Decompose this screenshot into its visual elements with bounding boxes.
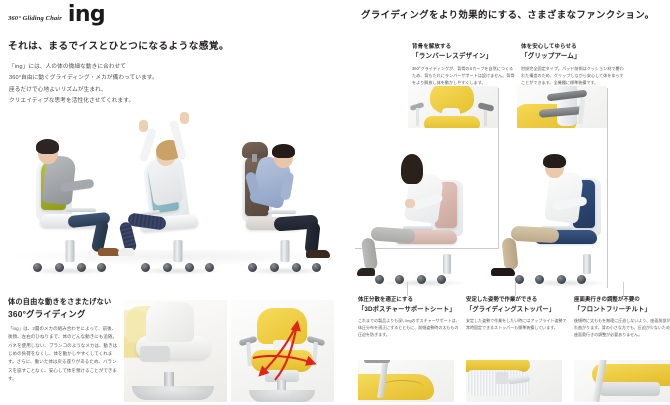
callout-tick-2 xyxy=(515,282,516,296)
chair-armrest xyxy=(268,210,296,214)
person-leg-upper xyxy=(511,226,560,243)
right-main-photos xyxy=(355,120,670,292)
feature-title-2: 「グリップアーム」 xyxy=(521,52,624,62)
chair-gas-column xyxy=(174,240,183,262)
feature-front-free-tilt: 座面奥行きの調整が不要の 「フロントフリーチルト」 後傾時に太ももを無理に圧迫し… xyxy=(574,296,670,338)
chair-headrest-stem xyxy=(252,154,257,162)
hero-photo-three-people xyxy=(0,118,352,290)
feature-gliding-stopper: 安定した姿勢で作業ができる 「グライディングストッパー」 安定した姿勢で作業をし… xyxy=(466,296,569,331)
person-shoe xyxy=(98,248,120,256)
person-hair xyxy=(543,154,566,168)
figure-man-brown-chair xyxy=(226,114,344,272)
product-logo: 360° Gliding Chair ing xyxy=(8,5,105,25)
callout-tick-3 xyxy=(623,282,624,296)
figure-man-navy-chair xyxy=(495,122,635,284)
gliding-stopper-photo xyxy=(466,360,562,402)
chair-armrest xyxy=(66,208,96,212)
gliding-caption: 体の自由な動きをさまたげない 360°グライディング 「ing」は、2層のメカの… xyxy=(8,297,120,383)
person-hair xyxy=(272,144,295,158)
feature-title-2: 「3Dポスチャーサポートシート」 xyxy=(358,305,461,314)
gliding-caption-title-2: 360°グライディング xyxy=(8,308,120,321)
person-leg-lower xyxy=(361,237,378,270)
gliding-direction-arrows-photo xyxy=(231,300,334,402)
callout-tick-1 xyxy=(407,282,408,296)
feature-title-1: 座面奥行きの調整が不要の xyxy=(574,296,670,304)
right-column: グライディングをより効果的にする、さまざまなファンクション。 背骨を解放する 「… xyxy=(355,0,670,405)
person-shoe xyxy=(491,268,515,276)
person-shoe xyxy=(306,250,330,258)
feature-3d-posture-support-seat: 体圧分散を適正にする 「3Dポスチャーサポートシート」 これまでの製品よりも深い… xyxy=(358,296,461,338)
person-shoe xyxy=(118,248,134,256)
feature-title-2: 「グライディングストッパー」 xyxy=(466,305,569,314)
armrest-pad xyxy=(364,360,390,363)
left-column: 360° Gliding Chair ing それは、まるでイスとひとつになるよ… xyxy=(0,0,352,405)
person-arm-raised-left xyxy=(139,128,157,163)
lead-copy: それは、まるでイスとひとつになるような感覚。 xyxy=(8,38,229,52)
person-hair xyxy=(401,154,423,184)
intro-line: 360°自由に動くグライディング・メカが備わっています。 xyxy=(9,73,219,84)
posture-support-seat-photo xyxy=(358,360,454,402)
person-leg-lower xyxy=(501,237,518,270)
feature-body: 安定した姿勢で作業をしたい時にはアップライト姿勢で常時固定できるストッパーも標準… xyxy=(466,317,569,331)
feature-title-1: 体圧分散を適正にする xyxy=(358,296,461,304)
stopper-mechanism xyxy=(496,372,508,384)
chair-gas-column xyxy=(66,240,75,262)
front-free-tilt-photo xyxy=(574,360,670,402)
person-leg-upper xyxy=(371,226,416,243)
intro-line: 座るだけで心地よいリズムが生まれ、 xyxy=(9,85,219,96)
chair-base xyxy=(515,271,587,284)
feature-title-2: 「ランバーレスデザイン」 xyxy=(412,52,515,62)
feature-grip-arm: 体を安心してゆらせる 「グリップアーム」 肘掛完全固定タイプ。パッド前側はクッシ… xyxy=(521,43,624,87)
direction-arrows-icon xyxy=(231,300,334,402)
figure-woman-pink-chair xyxy=(359,122,489,284)
person-hand-right xyxy=(180,112,189,124)
seat-contour-line xyxy=(380,380,424,394)
figure-woman-teal-chair xyxy=(118,102,238,272)
gliding-caption-title-1: 体の自由な動きをさまたげない xyxy=(8,297,120,307)
feature-body: 後傾時に太ももを無理に圧迫しないよう、座面前部が折れ曲がります。背の小さな方でも… xyxy=(574,317,670,338)
feature-title-1: 背骨を解放する xyxy=(412,43,515,51)
feature-title-1: 体を安心してゆらせる xyxy=(521,43,624,51)
gliding-caption-body: 「ing」は、2層のメカの組み合わせによって、前後、後傾、左右のひねりまで、体の… xyxy=(8,325,120,383)
person-hair xyxy=(36,139,59,154)
feature-title-2: 「フロントフリーチルト」 xyxy=(574,305,670,314)
feature-lumbarless-design: 背骨を解放する 「ランバーレスデザイン」 360°グライディングが、背骨のSカー… xyxy=(412,43,515,87)
chair-base-star xyxy=(132,386,214,400)
chair-base xyxy=(375,271,447,284)
person-hand-left xyxy=(139,120,148,132)
chair-gas-column xyxy=(281,240,290,262)
feature-body: これまでの製品よりも深いingのポスチャーサポートは、体圧分布を適正にするととも… xyxy=(358,317,461,338)
functions-heading: グライディングをより効果的にする、さまざまなファンクション。 xyxy=(361,7,654,21)
feature-body: 肘掛完全固定タイプ。パッド前側はクッション材で覆われた構造のため、グリップしなが… xyxy=(521,65,624,87)
logo-tagline: 360° Gliding Chair xyxy=(8,15,62,26)
figure-man-olive-chair xyxy=(14,122,126,272)
feature-title-1: 安定した姿勢で作業ができる xyxy=(466,296,569,304)
person-shoe-heel xyxy=(357,268,375,276)
logo-wordmark: ing xyxy=(68,5,105,25)
intro-line: 「ing」には、人の体の微細な動きに合わせて xyxy=(9,62,219,73)
brochure-page: 360° Gliding Chair ing それは、まるでイスとひとつになるよ… xyxy=(0,0,670,405)
multi-exposure-gliding-photo xyxy=(124,300,227,402)
chair-gas-column xyxy=(443,254,451,274)
seat-underframe xyxy=(600,382,660,396)
chair-gas-column xyxy=(583,254,591,274)
person-hand xyxy=(405,199,415,208)
feature-body: 360°グライディングが、背骨のSカーブを自然につくるため、背もたれにランバーサ… xyxy=(412,65,515,87)
intro-paragraph: 「ing」には、人の体の微細な動きに合わせて 360°自由に動くグライディング・… xyxy=(9,62,219,108)
